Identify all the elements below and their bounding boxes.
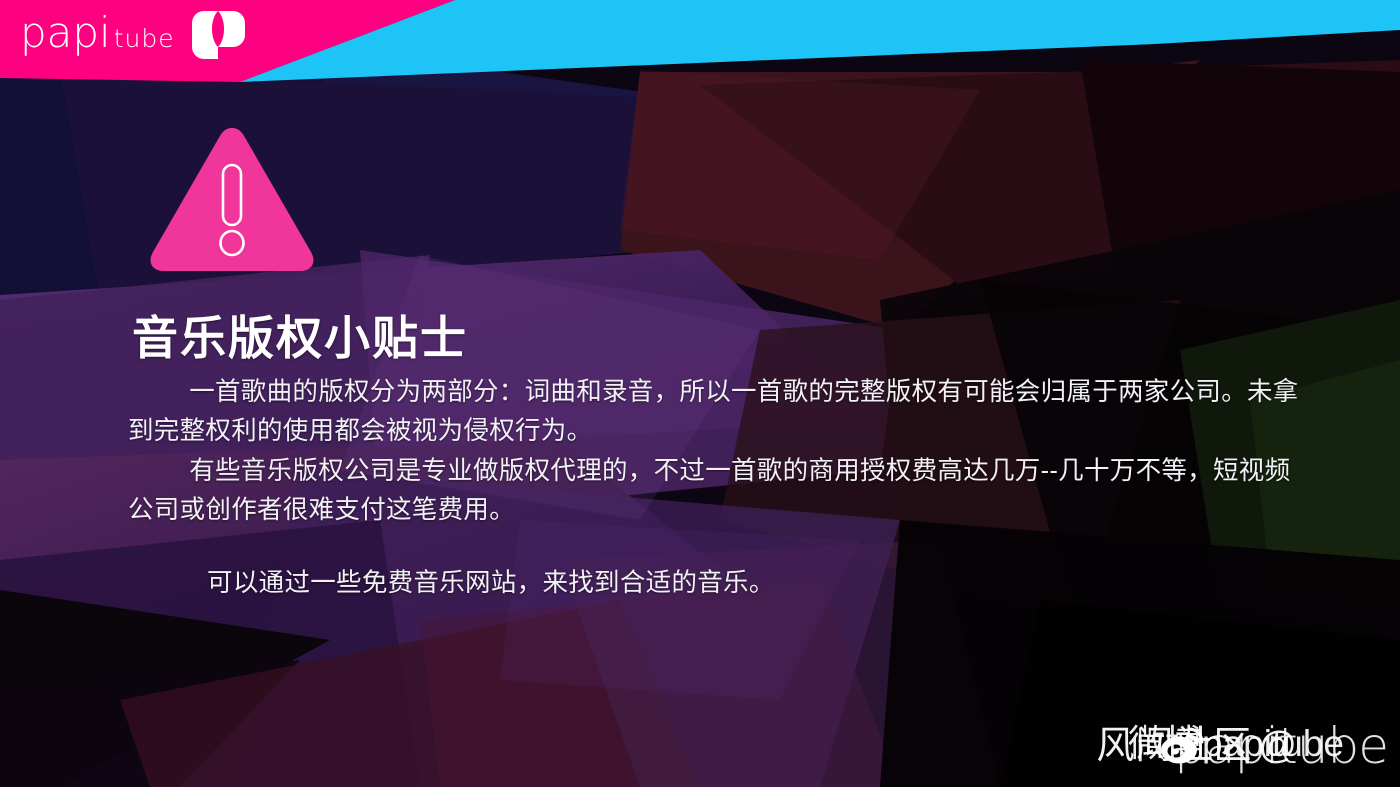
paragraph-2: 有些音乐版权公司是专业做版权代理的，不过一首歌的商用授权费高达几万--几十万不等… bbox=[128, 452, 1303, 530]
paragraph-1: 一首歌曲的版权分为两部分：词曲和录音，所以一首歌的完整版权有可能会归属于两家公司… bbox=[128, 373, 1303, 451]
warning-triangle-icon bbox=[146, 126, 318, 272]
page-title: 音乐版权小贴士 bbox=[132, 302, 468, 368]
slide-canvas: papitube 音乐版权小贴士 一首歌曲的版权分为两部分：词曲和录音，所以一首… bbox=[0, 0, 1400, 787]
watermark-brand: papitube bbox=[1174, 717, 1388, 775]
top-banner bbox=[0, 0, 1400, 110]
paragraph-3: 可以通过一些免费音乐网站，来找到合适的音乐。 bbox=[128, 564, 1303, 603]
body-copy: 一首歌曲的版权分为两部分：词曲和录音，所以一首歌的完整版权有可能会归属于两家公司… bbox=[128, 373, 1303, 603]
